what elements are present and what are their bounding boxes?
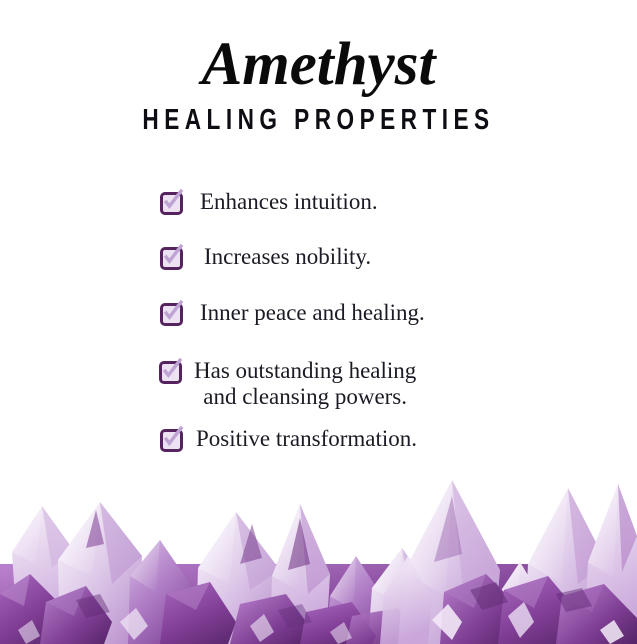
checkbox-checked-icon [159,360,180,381]
page-subtitle: HEALING PROPERTIES [70,106,567,135]
list-item-inner-peace-and-healing: Inner peace and healing. [160,300,425,326]
header: Amethyst HEALING PROPERTIES [0,0,637,135]
list-item-increases-nobility: Increases nobility. [160,244,371,270]
list-item-label-line2: and cleansing powers. [194,384,416,410]
list-item-enhances-intuition: Enhances intuition. [160,189,378,215]
list-item-label: Has outstanding healingand cleansing pow… [194,358,416,410]
list-item-healing-and-cleansing-powers: Has outstanding healingand cleansing pow… [159,358,416,410]
list-item-label: Enhances intuition. [200,189,378,215]
checkbox-checked-icon [160,302,181,323]
list-item-label: Increases nobility. [204,244,371,270]
amethyst-infographic: Amethyst HEALING PROPERTIES Enhances int… [0,0,637,644]
checkbox-checked-icon [160,246,181,267]
list-item-label: Inner peace and healing. [200,300,425,326]
checkbox-checked-icon [160,191,181,212]
amethyst-crystal-cluster-image [0,444,637,644]
page-title: Amethyst [0,34,637,96]
list-item-label-line1: Has outstanding healing [194,358,416,383]
